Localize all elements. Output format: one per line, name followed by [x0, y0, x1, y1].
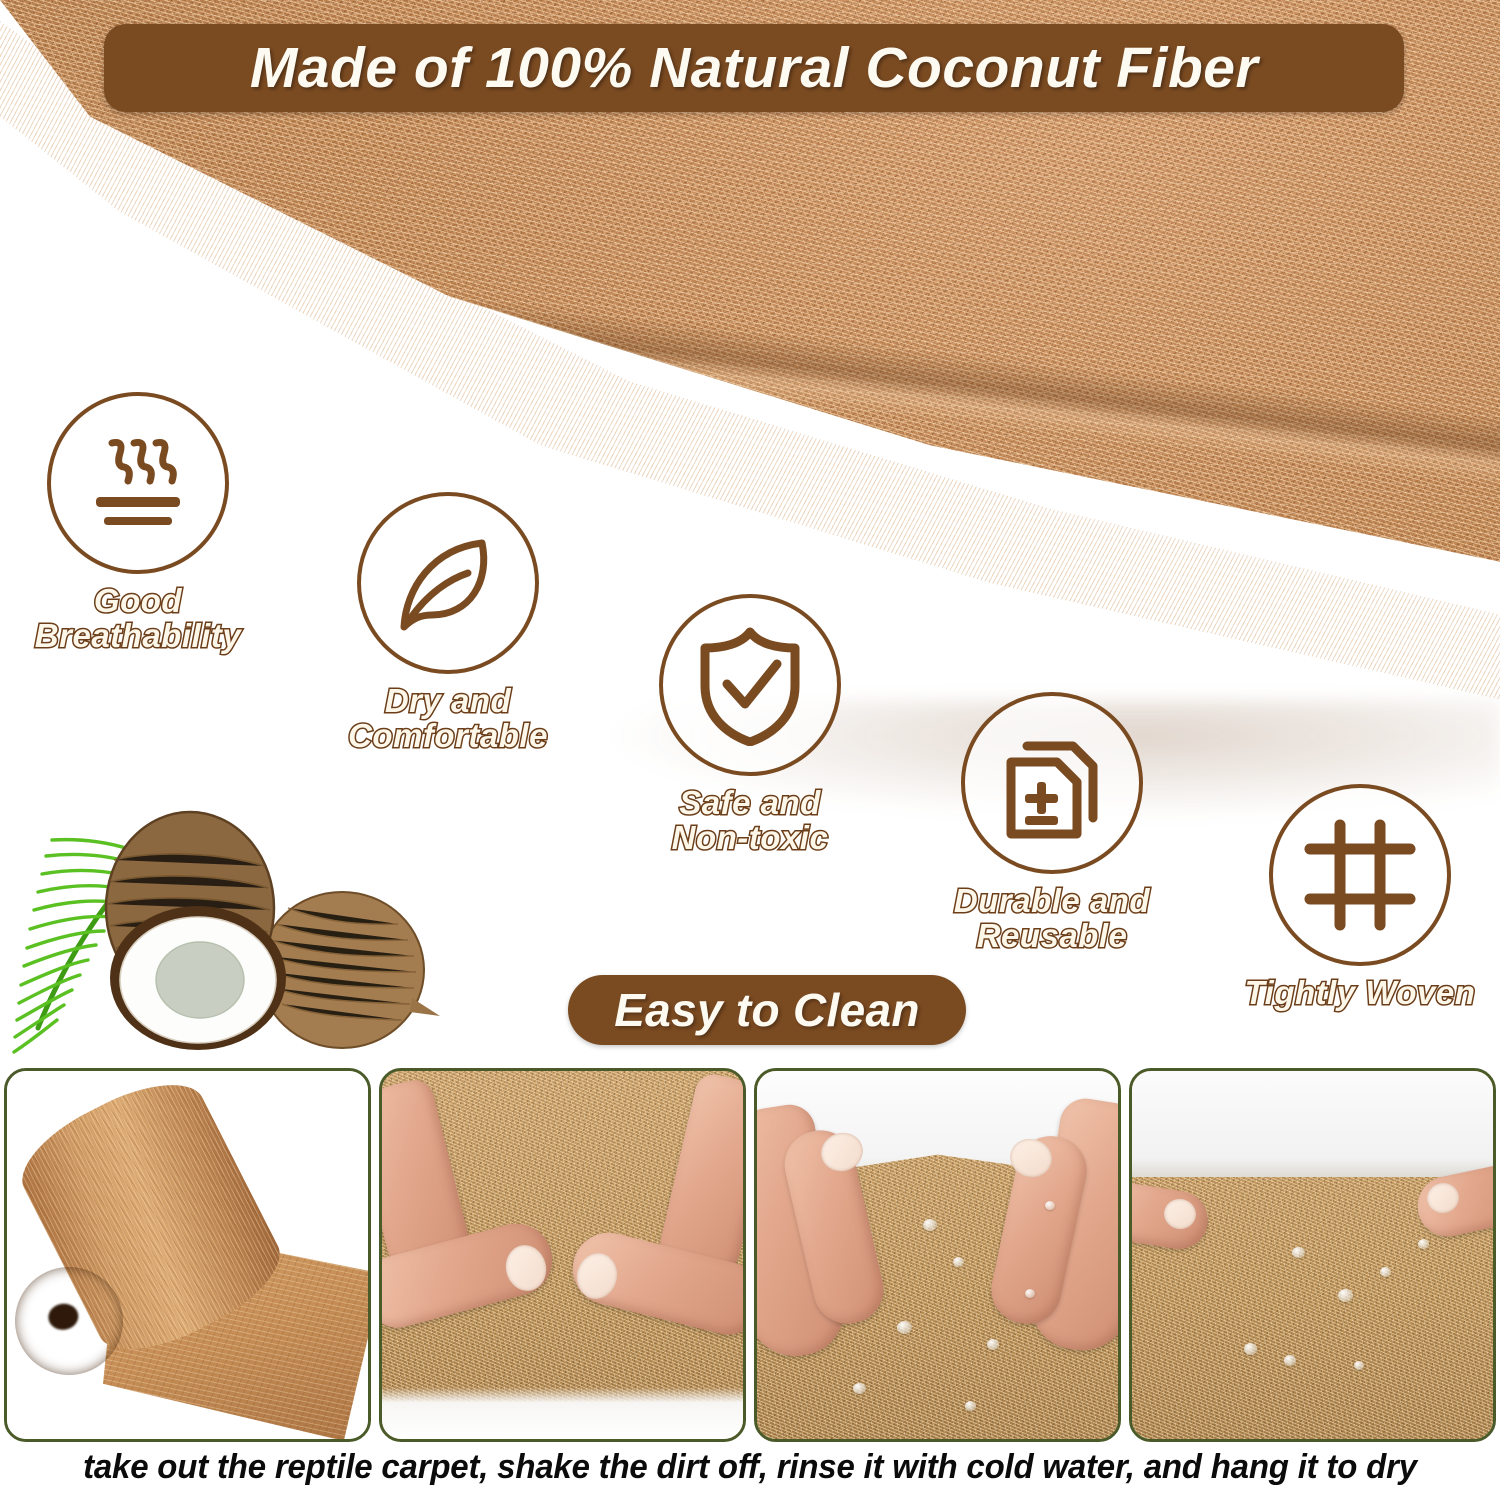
water-droplet	[1380, 1267, 1391, 1277]
panel-white-base	[382, 1387, 743, 1439]
steam-breathability-icon	[78, 423, 198, 543]
water-droplet	[853, 1383, 866, 1394]
water-droplet	[923, 1219, 937, 1231]
water-droplet	[1418, 1239, 1429, 1249]
water-droplet	[1025, 1289, 1035, 1298]
shield-check-icon	[689, 624, 811, 746]
photo-strip	[0, 1068, 1500, 1442]
headline-banner: Made of 100% Natural Coconut Fiber	[104, 24, 1404, 112]
water-droplet	[897, 1321, 912, 1334]
water-droplet	[1338, 1289, 1353, 1302]
feature-label: Good Breathability	[35, 584, 241, 654]
coconut-half	[106, 812, 286, 1050]
water-droplet	[1354, 1361, 1364, 1370]
panel-white-backdrop	[1132, 1071, 1493, 1177]
cleaning-instructions-caption: take out the reptile carpet, shake the d…	[23, 1448, 1478, 1487]
feature-label: Tightly Woven	[1245, 976, 1476, 1011]
water-droplet	[1284, 1355, 1296, 1366]
water-droplet	[1244, 1343, 1257, 1355]
feature-icon-circle	[357, 492, 539, 674]
water-droplet	[987, 1339, 999, 1350]
panel-rolled-mat	[4, 1068, 371, 1442]
leaf-icon	[388, 523, 508, 643]
headline-text: Made of 100% Natural Coconut Fiber	[250, 35, 1258, 101]
woven-grid-icon	[1302, 817, 1418, 933]
easy-to-clean-text: Easy to Clean	[614, 983, 920, 1037]
water-droplet	[1045, 1201, 1055, 1210]
feature-label: Durable and Reusable	[954, 884, 1150, 954]
feature-icon-circle	[47, 392, 229, 574]
feature-icon-circle	[659, 594, 841, 776]
coconut-whole	[260, 892, 440, 1048]
feature-safe-and-non-toxic: Safe and Non-toxic	[630, 594, 870, 856]
panel-hands-lifting	[754, 1068, 1121, 1442]
feature-label: Dry and Comfortable	[348, 684, 548, 754]
feature-good-breathability: Good Breathability	[18, 392, 258, 654]
panel-mat-flat	[1129, 1068, 1496, 1442]
water-droplet	[1292, 1247, 1305, 1258]
feature-label: Safe and Non-toxic	[672, 786, 829, 856]
feature-tightly-woven: Tightly Woven	[1240, 784, 1480, 1011]
documents-plus-minus-icon	[993, 724, 1111, 842]
panel-hands-texture	[379, 1068, 746, 1442]
feature-dry-and-comfortable: Dry and Comfortable	[328, 492, 568, 754]
coconuts-with-palm-frond	[2, 800, 442, 1065]
water-droplet	[965, 1401, 976, 1411]
feature-icon-circle	[961, 692, 1143, 874]
water-droplet	[953, 1257, 964, 1267]
product-infographic: Made of 100% Natural Coconut Fiber Good …	[0, 0, 1500, 1498]
feature-icon-circle	[1269, 784, 1451, 966]
feature-durable-and-reusable: Durable and Reusable	[932, 692, 1172, 954]
easy-to-clean-banner: Easy to Clean	[568, 975, 966, 1045]
